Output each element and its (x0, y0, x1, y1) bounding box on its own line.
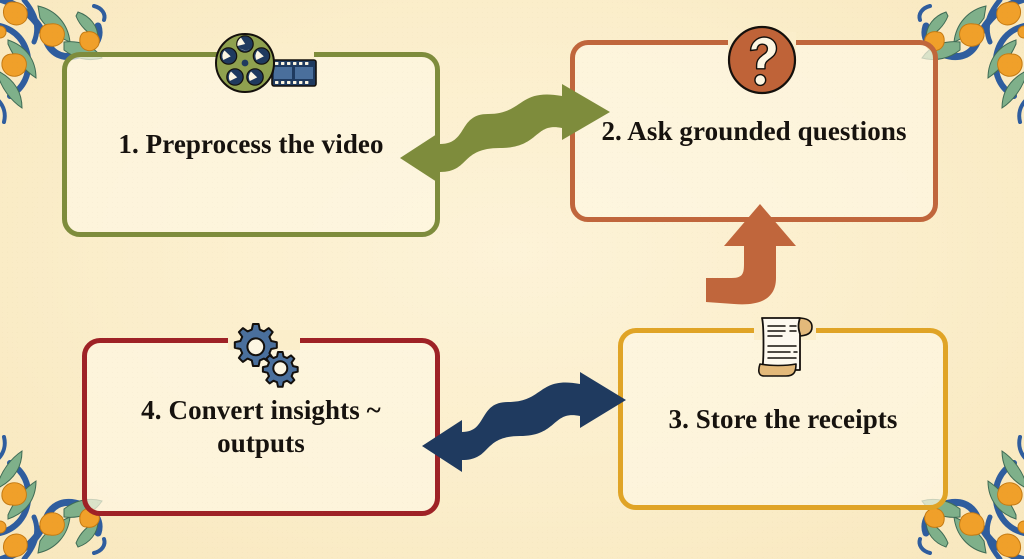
step-label-3: 3. Store the receipts (668, 403, 897, 436)
connector-arrow-step3-step4 (420, 362, 642, 490)
film-reel-icon (214, 32, 318, 94)
step-label-2: 2. Ask grounded questions (601, 115, 906, 148)
connector-arrow-step3-step2 (700, 196, 832, 320)
step-label-1: 1. Preprocess the video (118, 128, 383, 161)
receipt-scroll-icon (752, 312, 818, 384)
gears-icon (224, 322, 304, 394)
question-mark-circle-icon (726, 24, 798, 96)
connector-arrow-step1-step2 (398, 72, 630, 204)
diagram-canvas: 1. Preprocess the video 2. Ask grounded … (0, 0, 1024, 559)
step-label-4: 4. Convert insights ~ outputs (113, 394, 409, 460)
